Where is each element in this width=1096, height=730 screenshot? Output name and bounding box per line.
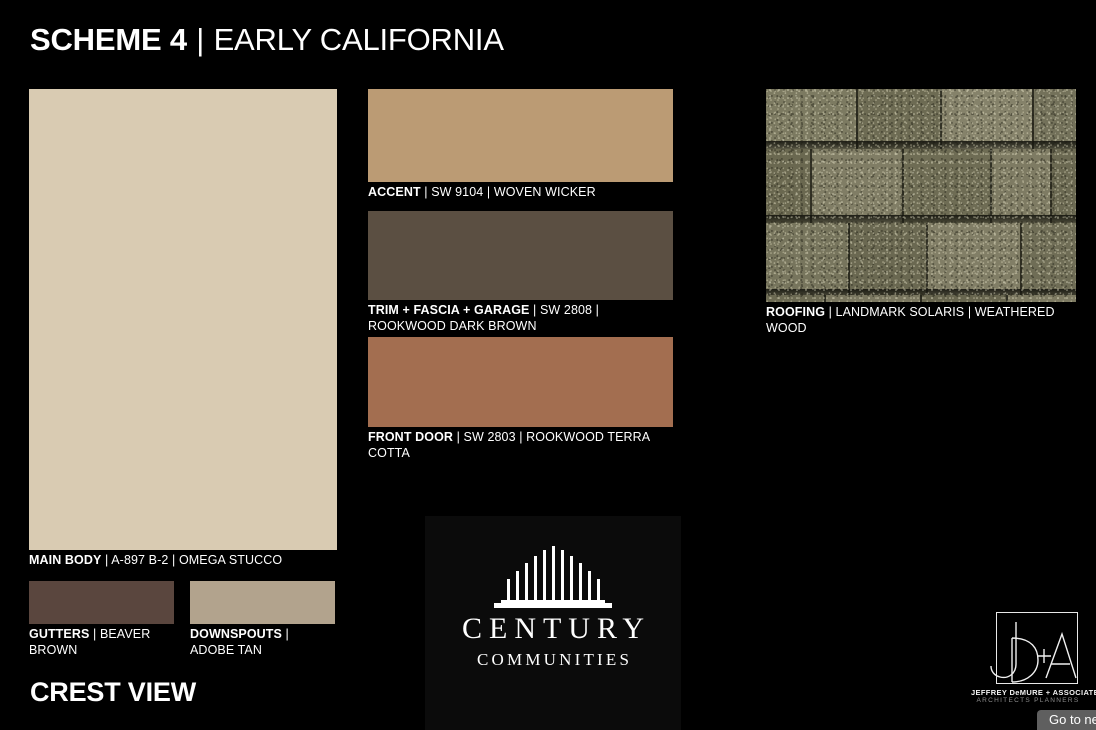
material-trim-fascia-garage: TRIM + FASCIA + GARAGE | SW 2808 | ROOKW…: [368, 211, 673, 334]
front-door-caption: FRONT DOOR | SW 2803 | ROOKWOOD TERRA CO…: [368, 427, 673, 461]
century-wordmark: CENTURY: [425, 612, 681, 646]
jda-monogram-icon: [978, 616, 1078, 686]
gutters-label: GUTTERS: [29, 627, 89, 641]
next-page-button[interactable]: Go to next page: [1037, 710, 1096, 730]
main-body-name: OMEGA STUCCO: [179, 553, 282, 567]
accent-label: ACCENT: [368, 185, 421, 199]
accent-caption: ACCENT | SW 9104 | WOVEN WICKER: [368, 182, 673, 201]
roofing-shingle-photo: [766, 89, 1076, 302]
trim-caption: TRIM + FASCIA + GARAGE | SW 2808 | ROOKW…: [368, 300, 673, 334]
caption-separator: |: [421, 185, 432, 199]
caption-separator: |: [483, 185, 494, 199]
accent-code: SW 9104: [431, 185, 483, 199]
trim-code: SW 2808: [540, 303, 592, 317]
caption-separator: |: [825, 305, 836, 319]
jda-firm-name: JEFFREY DeMURE + ASSOCIATES: [971, 688, 1085, 697]
material-main-body: MAIN BODY | A-897 B-2 | OMEGA STUCCO: [29, 89, 337, 569]
gutters-swatch: [29, 581, 174, 624]
caption-separator: |: [101, 553, 111, 567]
century-subtitle: COMMUNITIES: [425, 650, 681, 670]
roofing-label: ROOFING: [766, 305, 825, 319]
trim-swatch: [368, 211, 673, 300]
main-body-swatch: [29, 89, 337, 550]
accent-swatch: [368, 89, 673, 182]
material-roofing: ROOFING | LANDMARK SOLARIS | WEATHERED W…: [766, 89, 1076, 336]
page-title-style: EARLY CALIFORNIA: [214, 22, 504, 57]
gutters-caption: GUTTERS | BEAVER BROWN: [29, 624, 174, 658]
jda-architect-logo: JEFFREY DeMURE + ASSOCIATES ARCHITECTS P…: [978, 612, 1078, 712]
material-downspouts: DOWNSPOUTS | ADOBE TAN: [190, 581, 335, 658]
color-scheme-board: SCHEME 4 | EARLY CALIFORNIA MAIN BODY | …: [0, 0, 1096, 730]
main-body-caption: MAIN BODY | A-897 B-2 | OMEGA STUCCO: [29, 550, 337, 569]
caption-separator: |: [282, 627, 289, 641]
trim-name: ROOKWOOD DARK BROWN: [368, 319, 537, 333]
caption-separator: |: [529, 303, 540, 317]
jda-discipline: ARCHITECTS PLANNERS: [971, 697, 1085, 704]
caption-separator: |: [964, 305, 975, 319]
community-name: CREST VIEW: [30, 676, 196, 708]
caption-separator: |: [89, 627, 100, 641]
main-body-code: A-897 B-2: [111, 553, 168, 567]
caption-separator: |: [453, 430, 464, 444]
page-title-separator: |: [187, 22, 214, 57]
downspouts-caption: DOWNSPOUTS | ADOBE TAN: [190, 624, 335, 658]
front-door-swatch: [368, 337, 673, 427]
caption-separator: |: [516, 430, 527, 444]
front-door-code: SW 2803: [464, 430, 516, 444]
caption-separator: |: [592, 303, 599, 317]
century-building-icon: [425, 546, 681, 608]
downspouts-swatch: [190, 581, 335, 624]
roofing-caption: ROOFING | LANDMARK SOLARIS | WEATHERED W…: [766, 302, 1096, 336]
front-door-label: FRONT DOOR: [368, 430, 453, 444]
century-communities-logo: CENTURY COMMUNITIES: [425, 516, 681, 730]
trim-label: TRIM + FASCIA + GARAGE: [368, 303, 529, 317]
downspouts-name: ADOBE TAN: [190, 643, 262, 657]
caption-separator: |: [168, 553, 179, 567]
material-accent: ACCENT | SW 9104 | WOVEN WICKER: [368, 89, 673, 201]
material-gutters: GUTTERS | BEAVER BROWN: [29, 581, 174, 658]
roofing-code: LANDMARK SOLARIS: [836, 305, 965, 319]
main-body-label: MAIN BODY: [29, 553, 101, 567]
page-title: SCHEME 4 | EARLY CALIFORNIA: [30, 22, 504, 58]
accent-name: WOVEN WICKER: [494, 185, 596, 199]
material-front-door: FRONT DOOR | SW 2803 | ROOKWOOD TERRA CO…: [368, 337, 673, 461]
page-title-scheme: SCHEME 4: [30, 22, 187, 57]
downspouts-label: DOWNSPOUTS: [190, 627, 282, 641]
